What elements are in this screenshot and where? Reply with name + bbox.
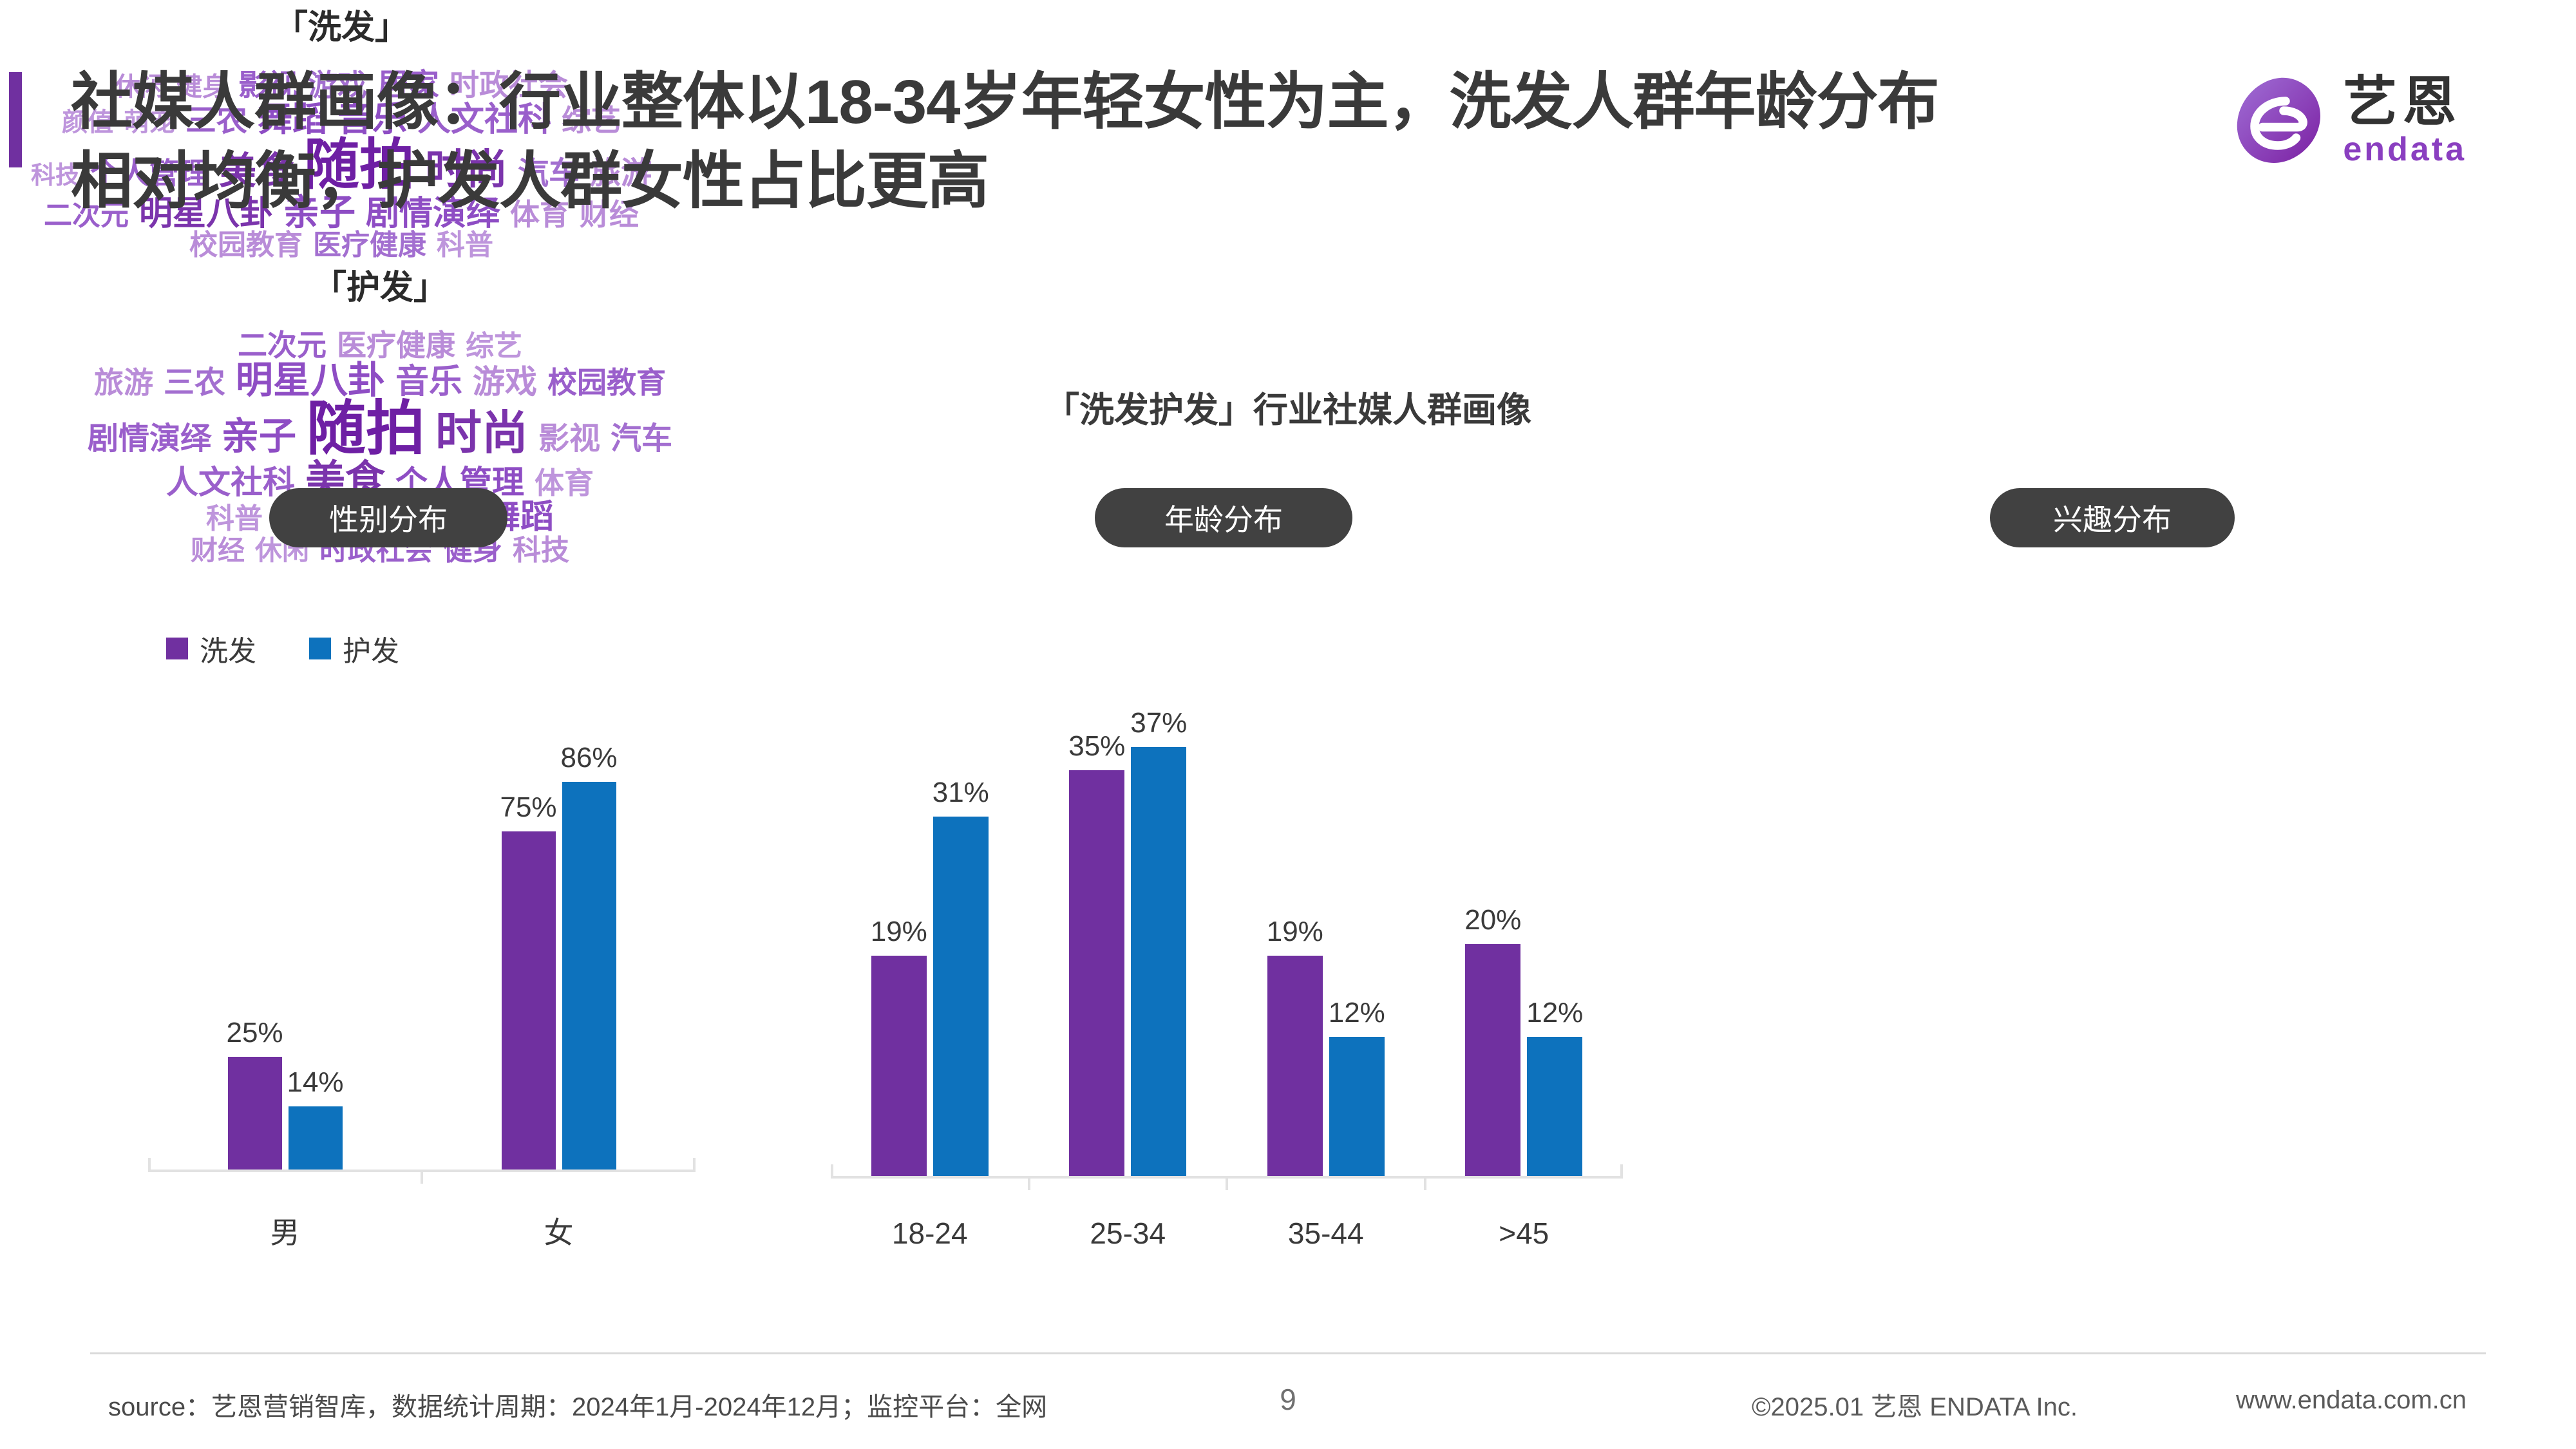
section-pill-interest: 兴趣分布 bbox=[1990, 488, 2235, 547]
bar-item: 19% bbox=[1267, 663, 1323, 1176]
bar-value-label: 12% bbox=[1329, 997, 1385, 1029]
chart-legend: 洗发护发 bbox=[166, 628, 399, 669]
slide: 社媒人群画像：行业整体以18-34岁年轻女性为主，洗发人群年龄分布相对均衡，护发… bbox=[0, 0, 2576, 1449]
bar bbox=[562, 782, 616, 1170]
bar-groups: 19%31%35%37%19%12%20%12% bbox=[831, 663, 1623, 1176]
wordcloud-term: 综艺 bbox=[466, 332, 522, 361]
bar bbox=[1267, 956, 1323, 1176]
bar-item: 75% bbox=[502, 670, 556, 1170]
legend-swatch-icon bbox=[166, 638, 188, 659]
brand-logo: 艺恩 endata bbox=[2230, 72, 2467, 169]
bar-group: 20%12% bbox=[1425, 663, 1624, 1176]
bar-value-label: 75% bbox=[500, 791, 556, 824]
wordcloud-row: 二次元医疗健康综艺 bbox=[0, 330, 760, 361]
legend-label: 护发 bbox=[343, 628, 399, 669]
page-number: 9 bbox=[0, 1382, 2576, 1417]
wordcloud-term: 校园教育 bbox=[189, 231, 303, 260]
bar-item: 25% bbox=[228, 670, 282, 1170]
bar-value-label: 19% bbox=[1267, 916, 1323, 948]
x-axis-tick-label: 35-44 bbox=[1227, 1179, 1425, 1251]
wordcloud-term: 医疗健康 bbox=[313, 231, 426, 260]
bar-item: 14% bbox=[289, 670, 343, 1170]
bar-value-label: 31% bbox=[933, 777, 989, 809]
bar-group: 35%37% bbox=[1029, 663, 1227, 1176]
legend-swatch-icon bbox=[309, 638, 331, 659]
wordcloud-term: 财经 bbox=[191, 537, 245, 565]
wordcloud-term: 科技 bbox=[513, 536, 569, 565]
bar-value-label: 20% bbox=[1464, 904, 1521, 936]
section-pill-age: 年龄分布 bbox=[1095, 488, 1352, 547]
bar bbox=[502, 831, 556, 1170]
age-distribution-chart: 19%31%35%37%19%12%20%12%18-2425-3435-44>… bbox=[831, 663, 1623, 1179]
legend-item-护发: 护发 bbox=[309, 628, 399, 669]
bar-item: 86% bbox=[562, 670, 616, 1170]
logo-cn-text: 艺恩 bbox=[2343, 75, 2461, 129]
bar bbox=[1131, 747, 1186, 1176]
x-axis-tick-label: 18-24 bbox=[831, 1179, 1029, 1251]
logo-en-text: endata bbox=[2343, 133, 2467, 166]
x-axis-labels: 18-2425-3435-44>45 bbox=[831, 1179, 1623, 1251]
x-axis-labels: 男女 bbox=[148, 1172, 696, 1252]
gender-distribution-chart: 25%14%75%86%男女 bbox=[148, 670, 696, 1172]
bar-group: 19%12% bbox=[1227, 663, 1425, 1176]
x-axis-tick-label: 25-34 bbox=[1029, 1179, 1227, 1251]
bar bbox=[1465, 944, 1520, 1176]
title-accent-bar bbox=[9, 72, 22, 167]
footer-copyright: ©2025.01 艺恩 ENDATA Inc. bbox=[1752, 1386, 2078, 1423]
bar-item: 31% bbox=[933, 663, 989, 1176]
bar-value-label: 86% bbox=[560, 742, 617, 774]
footer-website-link[interactable]: www.endata.com.cn bbox=[2236, 1386, 2467, 1415]
chart-block-title: 「洗发护发」行业社媒人群画像 bbox=[0, 381, 2576, 432]
bar-item: 19% bbox=[871, 663, 927, 1176]
wordcloud-row: 校园教育医疗健康科普 bbox=[0, 231, 683, 260]
wordcloud-title: 「护发」 bbox=[0, 260, 760, 308]
endata-logo-icon bbox=[2230, 72, 2326, 169]
bar-item: 37% bbox=[1131, 663, 1186, 1176]
bar-group: 19%31% bbox=[831, 663, 1029, 1176]
axis-end-tick bbox=[148, 1158, 151, 1172]
wordcloud-term: 体育 bbox=[535, 468, 594, 498]
plot-area: 25%14%75%86%男女 bbox=[148, 670, 696, 1172]
bar-value-label: 14% bbox=[287, 1066, 343, 1099]
x-axis-tick-label: 男 bbox=[148, 1172, 422, 1252]
bar-value-label: 19% bbox=[871, 916, 927, 948]
page-title: 社媒人群画像：行业整体以18-34岁年轻女性为主，洗发人群年龄分布相对均衡，护发… bbox=[71, 63, 1971, 222]
x-axis-tick-label: 女 bbox=[422, 1172, 696, 1252]
legend-label: 洗发 bbox=[200, 628, 256, 669]
legend-item-洗发: 洗发 bbox=[166, 628, 256, 669]
bar bbox=[933, 817, 989, 1176]
axis-end-tick bbox=[1620, 1164, 1623, 1179]
wordcloud-term: 科普 bbox=[206, 505, 263, 534]
bar-value-label: 35% bbox=[1068, 730, 1125, 762]
bar-group: 75%86% bbox=[422, 670, 696, 1170]
axis-end-tick bbox=[831, 1164, 833, 1179]
bar-item: 35% bbox=[1069, 663, 1124, 1176]
plot-area: 19%31%35%37%19%12%20%12%18-2425-3435-44>… bbox=[831, 663, 1623, 1179]
wordcloud-term: 医疗健康 bbox=[337, 330, 455, 361]
bar-item: 12% bbox=[1329, 663, 1385, 1176]
footer-divider bbox=[90, 1352, 2486, 1354]
bar bbox=[871, 956, 927, 1176]
bar-item: 20% bbox=[1465, 663, 1520, 1176]
bar bbox=[228, 1057, 282, 1170]
bar bbox=[1069, 770, 1124, 1176]
wordcloud-term: 科普 bbox=[437, 231, 493, 260]
bar bbox=[1329, 1037, 1385, 1176]
bar-value-label: 12% bbox=[1526, 997, 1583, 1029]
wordcloud-title: 「洗发」 bbox=[0, 0, 683, 48]
logo-wordmark: 艺恩 endata bbox=[2343, 75, 2467, 166]
bar-item: 12% bbox=[1527, 663, 1582, 1176]
section-pill-gender: 性别分布 bbox=[269, 488, 507, 547]
bar-value-label: 37% bbox=[1130, 707, 1187, 739]
bar bbox=[1527, 1037, 1582, 1176]
bar-value-label: 25% bbox=[226, 1017, 283, 1049]
wordcloud-term: 二次元 bbox=[238, 330, 327, 361]
axis-end-tick bbox=[693, 1158, 696, 1172]
bar-groups: 25%14%75%86% bbox=[148, 670, 696, 1170]
wordcloud-term: 人文社科 bbox=[166, 466, 295, 499]
x-axis-tick-label: >45 bbox=[1425, 1179, 1624, 1251]
bar bbox=[289, 1106, 343, 1170]
bar-group: 25%14% bbox=[148, 670, 422, 1170]
